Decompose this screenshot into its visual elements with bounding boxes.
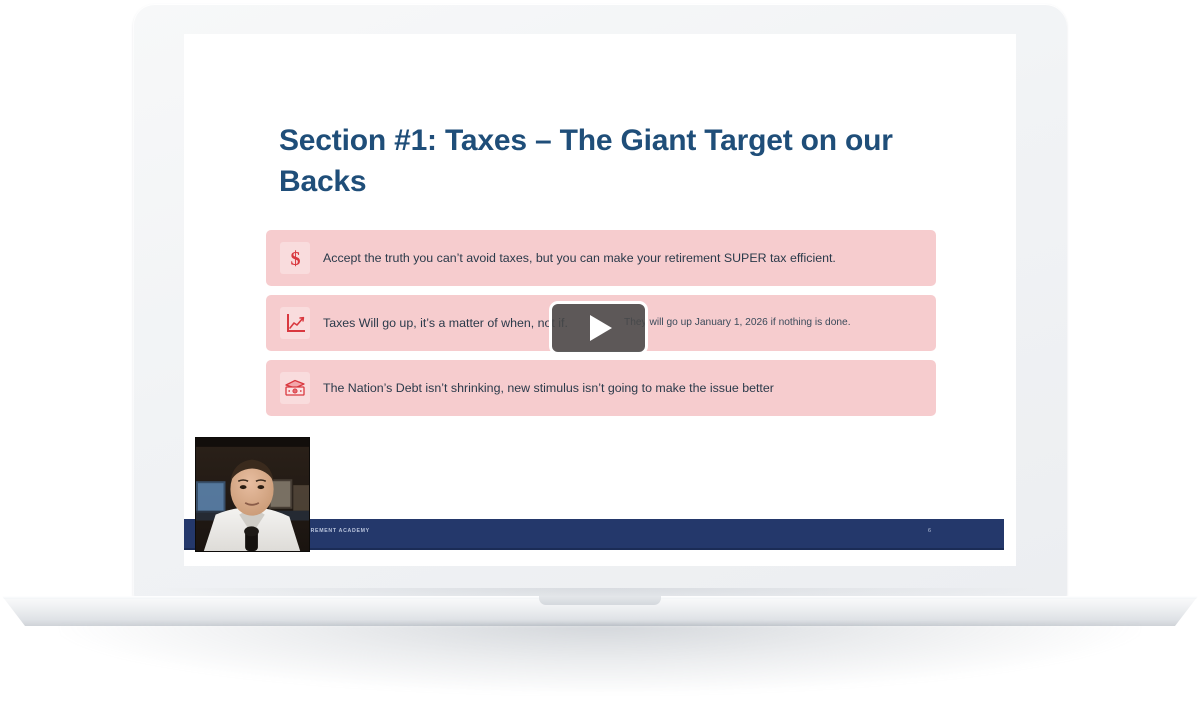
- laptop-base: [0, 596, 1200, 626]
- laptop-drop-shadow: [60, 624, 1140, 694]
- svg-text:$: $: [290, 248, 300, 269]
- laptop-video-mockup: Section #1: Taxes – The Giant Target on …: [0, 0, 1200, 723]
- bullet-row: $ Accept the truth you can’t avoid taxes…: [266, 230, 936, 286]
- laptop-screen: Section #1: Taxes – The Giant Target on …: [184, 34, 1016, 566]
- video-play-button[interactable]: [549, 301, 648, 355]
- presentation-slide: Section #1: Taxes – The Giant Target on …: [184, 34, 1016, 566]
- slide-page-number: 6: [928, 528, 931, 534]
- slide-title: Section #1: Taxes – The Giant Target on …: [279, 120, 929, 203]
- presenter-webcam-pip: [195, 437, 310, 552]
- line-chart-icon: [280, 307, 310, 339]
- laptop-lid-notch: [539, 596, 661, 605]
- bullet-text: The Nation’s Debt isn’t shrinking, new s…: [323, 379, 936, 397]
- bullet-subtext: They will go up January 1, 2026 if nothi…: [624, 317, 851, 328]
- play-triangle-icon: [590, 315, 612, 341]
- dollar-sign-icon: $: [280, 242, 310, 274]
- bullet-text: Accept the truth you can’t avoid taxes, …: [323, 249, 936, 267]
- bullet-row: The Nation’s Debt isn’t shrinking, new s…: [266, 360, 936, 416]
- money-stack-icon: [280, 372, 310, 404]
